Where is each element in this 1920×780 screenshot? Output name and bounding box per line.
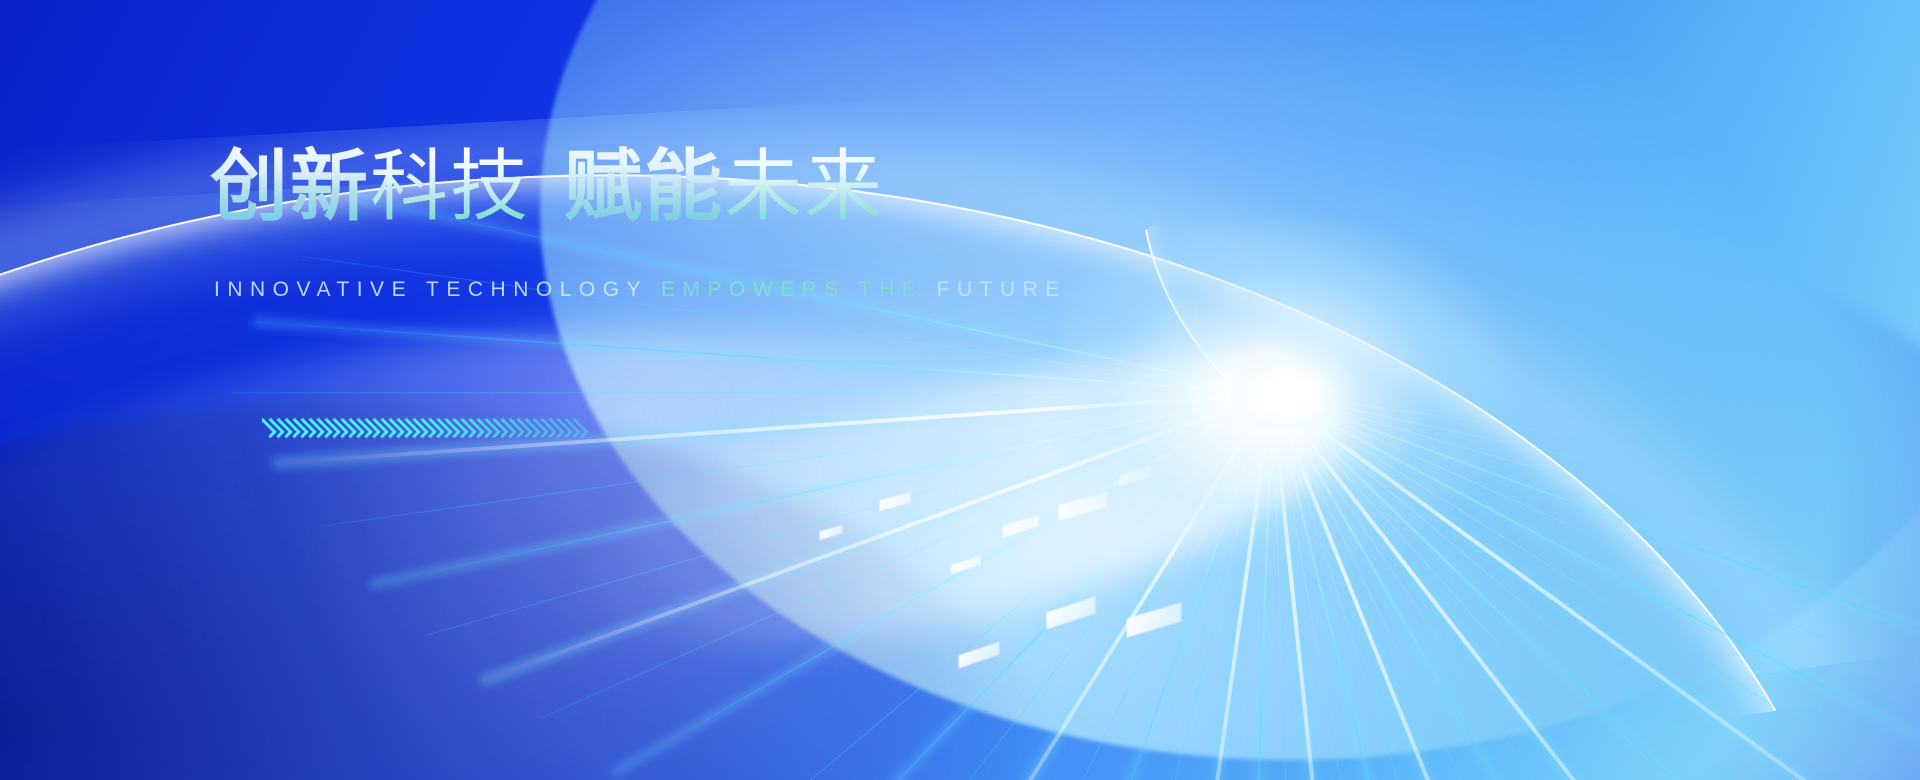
- page-subtitle: INNOVATIVE TECHNOLOGY EMPOWERS THE FUTUR…: [214, 278, 1067, 302]
- headline-segment-1: 创新: [210, 142, 370, 232]
- chevron-decoration: [262, 414, 702, 442]
- subtitle-part-3: FUTURE: [937, 278, 1067, 301]
- hero-banner: 创新科技赋能未来 INNOVATIVE TECHNOLOGY EMPOWERS …: [0, 0, 1920, 780]
- headline-segment-2: 科技: [370, 142, 530, 232]
- subtitle-part-1: INNOVATIVE TECHNOLOGY: [214, 278, 648, 301]
- subtitle-part-2: EMPOWERS THE: [661, 278, 923, 301]
- headline-segment-3: 赋能: [564, 142, 724, 232]
- banner-content: 创新科技赋能未来 INNOVATIVE TECHNOLOGY EMPOWERS …: [0, 0, 1920, 780]
- headline-segment-4: 未来: [724, 142, 884, 232]
- page-title: 创新科技赋能未来: [210, 148, 884, 226]
